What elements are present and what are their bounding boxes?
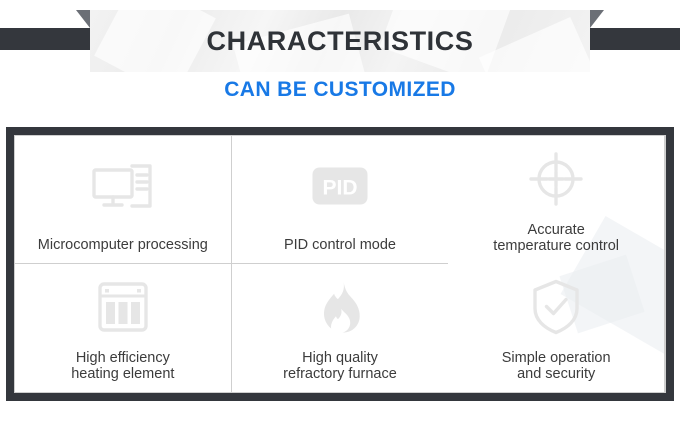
feature-label: Accurate temperature control xyxy=(487,222,625,256)
characteristics-infographic: CHARACTERISTICS CAN BE CUSTOMIZED xyxy=(0,0,680,423)
feature-label: High efficiency heating element xyxy=(65,350,180,384)
title-ribbon: CHARACTERISTICS xyxy=(90,10,590,72)
feature-label: High quality refractory furnace xyxy=(277,350,403,384)
heating-element-icon xyxy=(15,264,231,350)
page-subtitle: CAN BE CUSTOMIZED xyxy=(0,78,680,102)
page-title: CHARACTERISTICS xyxy=(206,26,473,57)
features-frame: Microcomputer processing PID PID control… xyxy=(6,127,674,401)
feature-label: Microcomputer processing xyxy=(32,237,214,255)
feature-cell-pid[interactable]: PID PID control mode xyxy=(232,136,449,264)
flame-icon xyxy=(232,264,449,350)
pid-badge-text: PID xyxy=(322,177,357,200)
ribbon-notch-right-icon xyxy=(590,10,604,28)
feature-cell-security[interactable]: Simple operation and security xyxy=(448,264,665,392)
pid-badge-icon: PID xyxy=(232,136,449,237)
shield-check-icon xyxy=(448,264,664,350)
features-grid: Microcomputer processing PID PID control… xyxy=(14,135,666,393)
crosshair-target-icon xyxy=(448,136,664,222)
feature-cell-refractory-furnace[interactable]: High quality refractory furnace xyxy=(232,264,449,392)
ribbon-notch-left-icon xyxy=(76,10,90,28)
desktop-computer-icon xyxy=(15,136,231,237)
feature-cell-accurate-temp[interactable]: Accurate temperature control xyxy=(448,136,665,264)
header-banner: CHARACTERISTICS xyxy=(0,0,680,76)
feature-label: PID control mode xyxy=(278,237,402,255)
feature-cell-microcomputer[interactable]: Microcomputer processing xyxy=(15,136,232,264)
feature-label: Simple operation and security xyxy=(496,350,617,384)
feature-cell-heating-element[interactable]: High efficiency heating element xyxy=(15,264,232,392)
